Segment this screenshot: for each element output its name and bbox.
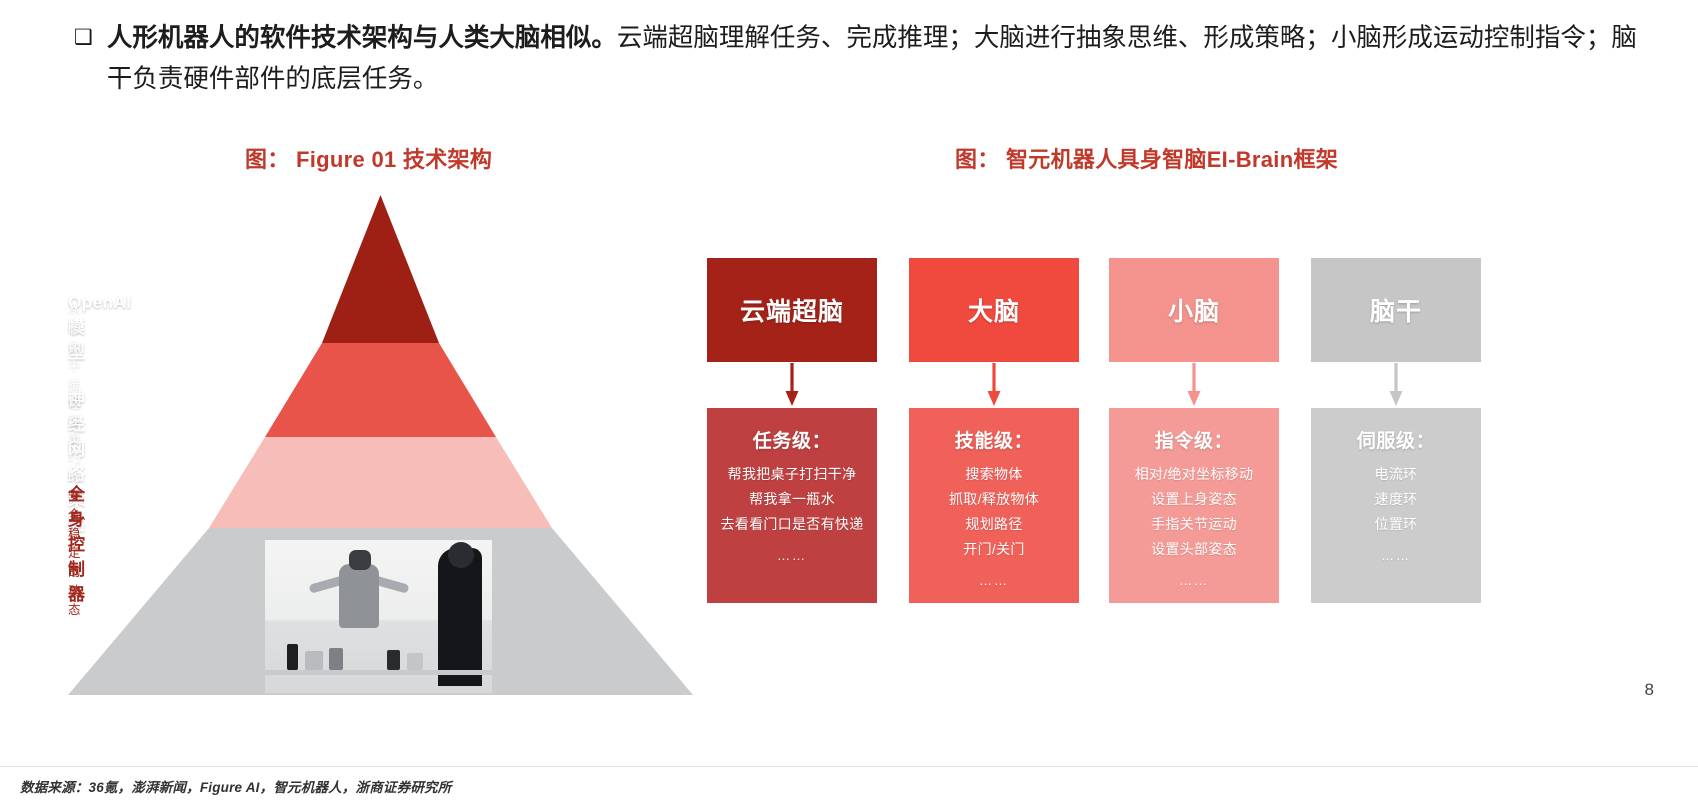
flow-bottom-box-skill-level: 技能级： 搜索物体 抓取/释放物体 规划路径 开门/关门 ……	[909, 408, 1079, 603]
human-operator-head	[448, 542, 474, 568]
table-surface	[265, 670, 492, 675]
flow-bottom-box-instruction-level: 指令级： 相对/绝对坐标移动 设置上身姿态 手指关节运动 设置头部姿态 ……	[1109, 408, 1279, 603]
flow-bottom-line: 去看看门口是否有快递	[707, 512, 877, 537]
prop-object	[387, 650, 400, 670]
flow-bottom-line: 开门/关门	[909, 537, 1079, 562]
headline-strong: 人形机器人的软件技术架构与人类大脑相似。	[107, 24, 617, 52]
flow-bottom-title-0: 任务级：	[707, 426, 877, 453]
flow-top-box-brainstem: 脑干	[1311, 258, 1481, 362]
flow-bottom-line: 速度环	[1311, 487, 1481, 512]
flow-bottom-ellipsis: ……	[1109, 568, 1279, 593]
footer-divider	[0, 766, 1698, 767]
right-figure-title: 图： 智元机器人具身智脑EI-Brain框架	[955, 142, 1338, 174]
flow-bottom-ellipsis: ……	[707, 543, 877, 568]
pyramid-diagram: OpenAI 模型 从图像中推理常识 神经网络策略 快速灵巧的操作 全身控制器 …	[68, 195, 693, 695]
left-figure-title: 图： Figure 01 技术架构	[245, 142, 492, 174]
flow-bottom-ellipsis: ……	[909, 568, 1079, 593]
flow-bottom-line: 设置头部姿态	[1109, 537, 1279, 562]
flow-column-brainstem: 脑干 伺服级： 电流环 速度环 位置环 ……	[1311, 258, 1481, 603]
flow-bottom-line: 设置上身姿态	[1109, 487, 1279, 512]
flow-column-cloud-brain: 云端超脑 任务级： 帮我把桌子打扫干净 帮我拿一瓶水 去看看门口是否有快递 ……	[707, 258, 877, 603]
flow-arrow-2	[1109, 362, 1279, 408]
flow-bottom-line: 帮我把桌子打扫干净	[707, 462, 877, 487]
robot-head	[349, 550, 371, 570]
flow-bottom-box-task-level: 任务级： 帮我把桌子打扫干净 帮我拿一瓶水 去看看门口是否有快递 ……	[707, 408, 877, 603]
flow-arrow-1	[909, 362, 1079, 408]
flow-arrow-0	[707, 362, 877, 408]
flow-arrow-3	[1311, 362, 1481, 408]
flow-bottom-line: 手指关节运动	[1109, 512, 1279, 537]
flow-bottom-line: 抓取/释放物体	[909, 487, 1079, 512]
flow-bottom-line: 相对/绝对坐标移动	[1109, 462, 1279, 487]
prop-object	[287, 644, 298, 670]
flow-bottom-title-2: 指令级：	[1109, 426, 1279, 453]
ei-brain-flow-diagram: 云端超脑 任务级： 帮我把桌子打扫干净 帮我拿一瓶水 去看看门口是否有快递 ………	[707, 258, 1487, 603]
flow-bottom-line: 搜索物体	[909, 462, 1079, 487]
flow-top-box-cerebellum: 小脑	[1109, 258, 1279, 362]
page-title: 人形机器人的软件技术架构与人类大脑相似。云端超脑理解任务、完成推理；大脑进行抽象…	[107, 18, 1654, 100]
robot-torso	[339, 564, 379, 628]
flow-bottom-line: 规划路径	[909, 512, 1079, 537]
flow-bottom-title-1: 技能级：	[909, 426, 1079, 453]
prop-object	[305, 651, 323, 670]
bullet-marker-icon: ❑	[74, 18, 93, 58]
flow-bottom-box-servo-level: 伺服级： 电流环 速度环 位置环 ……	[1311, 408, 1481, 603]
robot-demo-photo	[265, 540, 492, 693]
human-operator	[438, 548, 482, 686]
page-number: 8	[1645, 680, 1654, 700]
flow-column-cerebellum: 小脑 指令级： 相对/绝对坐标移动 设置上身姿态 手指关节运动 设置头部姿态 ……	[1109, 258, 1279, 603]
flow-bottom-line: 位置环	[1311, 512, 1481, 537]
flow-bottom-line: 帮我拿一瓶水	[707, 487, 877, 512]
flow-bottom-title-3: 伺服级：	[1311, 426, 1481, 453]
slide-header: ❑ 人形机器人的软件技术架构与人类大脑相似。云端超脑理解任务、完成推理；大脑进行…	[74, 18, 1654, 100]
flow-column-big-brain: 大脑 技能级： 搜索物体 抓取/释放物体 规划路径 开门/关门 ……	[909, 258, 1079, 603]
flow-top-box-cloud-brain: 云端超脑	[707, 258, 877, 362]
prop-object	[407, 653, 423, 670]
prop-object	[329, 648, 343, 670]
flow-bottom-line: 电流环	[1311, 462, 1481, 487]
flow-top-box-big-brain: 大脑	[909, 258, 1079, 362]
flow-bottom-ellipsis: ……	[1311, 543, 1481, 568]
source-note: 数据来源：36氪，澎湃新闻，Figure AI，智元机器人，浙商证券研究所	[20, 776, 451, 796]
